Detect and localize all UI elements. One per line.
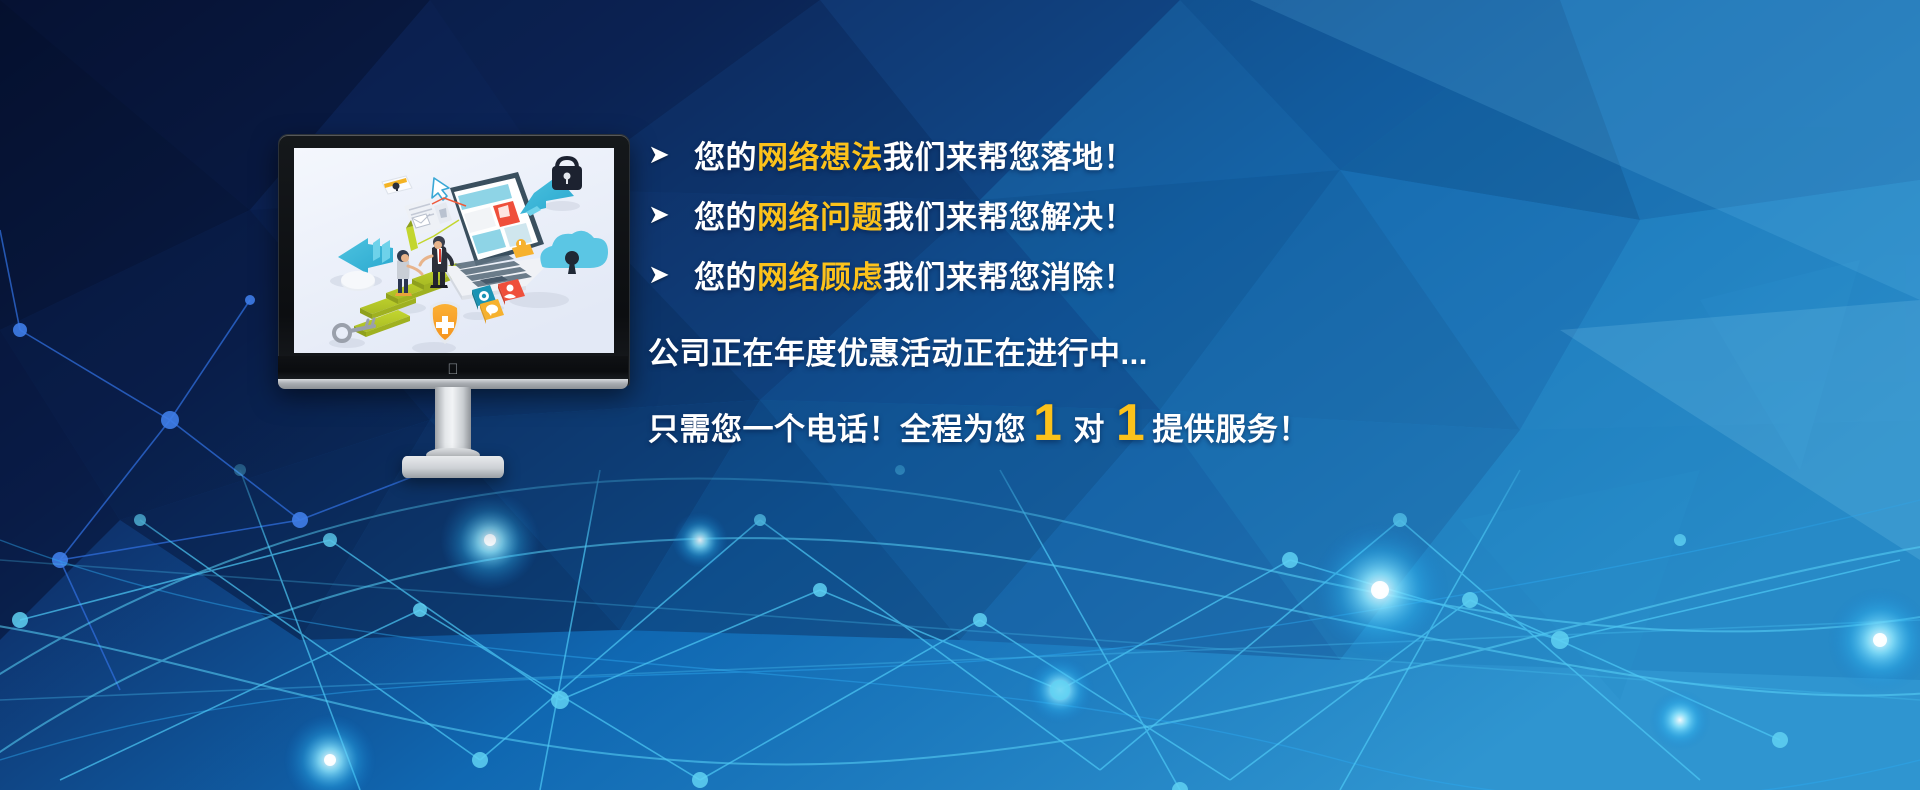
monitor-screen [294, 148, 614, 353]
promo-line-1: 公司正在年度优惠活动正在进行中... [648, 328, 1388, 373]
promo-line-2: 只需您一个电话！全程为您 1 对 1 提供服务！ [648, 403, 1388, 449]
monitor-stand-base [402, 456, 504, 478]
banner-copy: ➤ 您的网络想法我们来帮您落地！ ➤ 您的网络问题我们来帮您解决！ ➤ 您的网络… [648, 124, 1388, 449]
bullet-prefix-2: 您的 [694, 200, 757, 235]
bullet-prefix-1: 您的 [694, 140, 757, 175]
bullet-line-2: ➤ 您的网络问题我们来帮您解决！ [648, 184, 1388, 244]
apple-logo-icon:  [447, 362, 458, 377]
bullet-text-3: 您的网络顾虑我们来帮您消除！ [694, 252, 1135, 297]
bullet-line-3: ➤ 您的网络顾虑我们来帮您消除！ [648, 244, 1388, 304]
monitor-bezel [278, 134, 630, 386]
imac-monitor:  [278, 134, 628, 464]
bullet-highlight-2: 网络问题 [757, 200, 883, 235]
isometric-illustration [294, 148, 614, 353]
bullet-line-1: ➤ 您的网络想法我们来帮您落地！ [648, 124, 1388, 184]
mouse-icon [341, 271, 375, 291]
bullet-suffix-1: 我们来帮您落地！ [883, 140, 1135, 175]
bullet-text-2: 您的网络问题我们来帮您解决！ [694, 192, 1135, 237]
arrow-right-icon: ➤ [648, 141, 694, 167]
promo-number-first: 1 [1026, 403, 1069, 445]
promo-line-2-part1: 只需您一个电话！全程为您 [648, 404, 1026, 449]
promo-number-second: 1 [1109, 403, 1152, 445]
arrow-right-icon: ➤ [648, 261, 694, 287]
bullet-suffix-3: 我们来帮您消除！ [883, 260, 1135, 295]
arrow-right-icon: ➤ [648, 201, 694, 227]
bullet-highlight-3: 网络顾虑 [757, 260, 883, 295]
promo-line-2-part2: 提供服务！ [1152, 404, 1310, 449]
promo-middle-word: 对 [1069, 404, 1109, 449]
bullet-prefix-3: 您的 [694, 260, 757, 295]
monitor-stand-neck [435, 387, 471, 462]
bullet-highlight-1: 网络想法 [757, 140, 883, 175]
promotional-banner:  ➤ 您的网络想法我们来帮您落地！ ➤ 您的网络问题我们来帮您解决！ ➤ 您的… [0, 0, 1920, 790]
bullet-text-1: 您的网络想法我们来帮您落地！ [694, 132, 1135, 177]
bullet-suffix-2: 我们来帮您解决！ [883, 200, 1135, 235]
